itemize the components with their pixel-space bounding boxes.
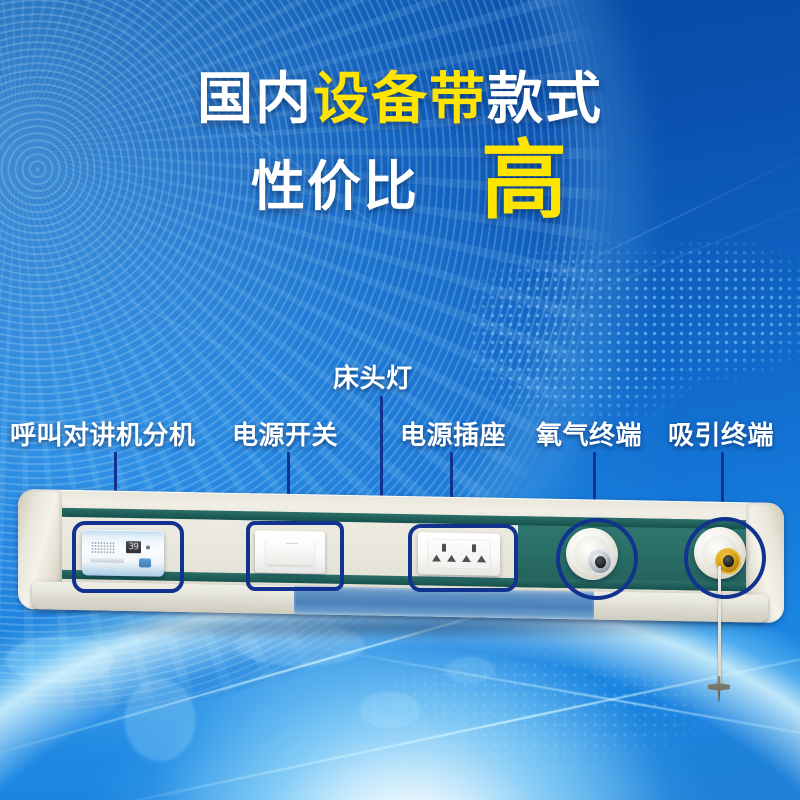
light-streak — [285, 641, 800, 761]
headline-line-2: 性价比 高 — [0, 141, 800, 223]
highlight-box-intercom — [72, 521, 184, 593]
light-streak — [0, 229, 397, 432]
headline-highlight: 设备带 — [313, 67, 487, 130]
highlight-circle-oxygen — [556, 518, 638, 600]
headline-prefix: 国内 — [197, 67, 313, 130]
callout-label-suction: 吸引终端 — [668, 415, 774, 452]
headline-accent-word: 高 — [481, 141, 567, 223]
highlight-circle-suction — [684, 517, 766, 599]
promo-banner: 国内设备带款式 性价比 高 呼叫对讲机分机 电源开关 床头灯 电源插座 氧气终端… — [0, 0, 800, 800]
headline-line-1: 国内设备带款式 — [0, 70, 800, 129]
highlight-box-power-switch — [246, 521, 344, 591]
callout-label-bed-lamp: 床头灯 — [333, 358, 413, 395]
headline-block: 国内设备带款式 性价比 高 — [0, 70, 800, 222]
callout-label-oxygen: 氧气终端 — [536, 415, 642, 452]
callout-label-power-socket: 电源插座 — [400, 415, 506, 452]
highlight-box-power-socket — [408, 524, 518, 592]
headline-subtext: 性价比 — [251, 142, 419, 221]
callout-label-intercom: 呼叫对讲机分机 — [10, 415, 196, 452]
headline-suffix: 款式 — [487, 67, 603, 130]
panel-drop-shadow — [26, 618, 776, 640]
callout-label-power-switch: 电源开关 — [232, 415, 338, 452]
